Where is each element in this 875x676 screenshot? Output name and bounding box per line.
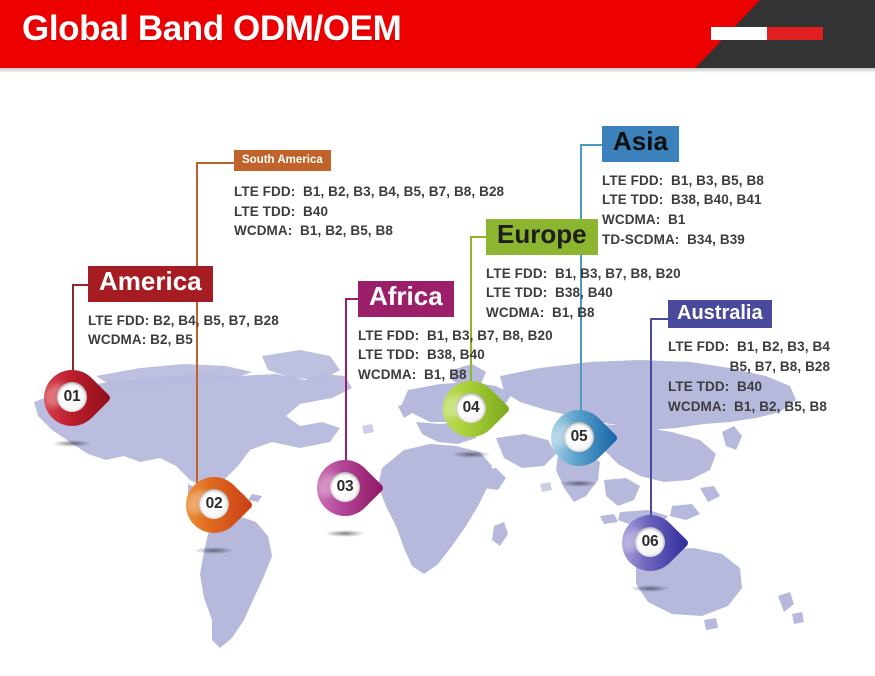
band-line: LTE FDD: B1, B3, B7, B8, B20: [358, 326, 553, 346]
region-bands-america: LTE FDD: B2, B4, B5, B7, B28 WCDMA: B2, …: [88, 311, 279, 350]
band-line: LTE FDD: B1, B3, B5, B8: [602, 171, 764, 191]
map-pin-06[interactable]: 06: [622, 515, 678, 591]
region-block-south-america: South America LTE FDD: B1, B2, B3, B4, B…: [234, 150, 504, 241]
map-pin-05[interactable]: 05: [551, 410, 607, 486]
band-line: LTE TDD: B38, B40: [358, 345, 553, 365]
pin-number-badge: 04: [456, 393, 486, 423]
page-title: Global Band ODM/OEM: [22, 9, 401, 49]
pin-shadow: [630, 585, 670, 592]
pin-number: 06: [642, 534, 659, 550]
band-line: LTE FDD: B1, B3, B7, B8, B20: [486, 264, 681, 284]
pin-shadow: [325, 530, 365, 537]
brand-logo-icon: [711, 27, 823, 40]
band-line: LTE TDD: B38, B40, B41: [602, 190, 764, 210]
brand-bar-white: [711, 27, 767, 40]
band-line: B5, B7, B8, B28: [668, 357, 830, 377]
pin-number: 02: [206, 496, 223, 512]
brand-bar-red: [767, 27, 823, 40]
band-line: LTE FDD: B2, B4, B5, B7, B28: [88, 311, 279, 331]
map-pin-01[interactable]: 01: [44, 370, 100, 446]
band-line: WCDMA: B1, B8: [486, 303, 681, 323]
pin-number-badge: 03: [330, 472, 360, 502]
pin-shadow: [559, 480, 599, 487]
band-line: LTE FDD: B1, B2, B3, B4, B5, B7, B8, B28: [234, 182, 504, 202]
band-line: WCDMA: B1: [602, 210, 764, 230]
pin-number-badge: 05: [564, 422, 594, 452]
pin-shadow: [52, 440, 92, 447]
map-pin-03[interactable]: 03: [317, 460, 373, 536]
band-line: TD-SCDMA: B34, B39: [602, 230, 764, 250]
pin-shadow: [194, 547, 234, 554]
pin-number-badge: 06: [635, 527, 665, 557]
region-bands-australia: LTE FDD: B1, B2, B3, B4 B5, B7, B8, B28 …: [668, 337, 830, 416]
band-line: WCDMA: B1, B2, B5, B8: [668, 397, 830, 417]
region-tag-america: America: [88, 266, 213, 302]
region-tag-europe: Europe: [486, 219, 598, 255]
band-line: WCDMA: B2, B5: [88, 330, 279, 350]
band-line: LTE TDD: B40: [234, 202, 504, 222]
pin-number-badge: 02: [199, 489, 229, 519]
region-bands-south-america: LTE FDD: B1, B2, B3, B4, B5, B7, B8, B28…: [234, 182, 504, 241]
band-line: LTE TDD: B38, B40: [486, 283, 681, 303]
region-bands-asia: LTE FDD: B1, B3, B5, B8 LTE TDD: B38, B4…: [602, 171, 764, 250]
pin-number-badge: 01: [57, 382, 87, 412]
region-tag-australia: Australia: [668, 300, 772, 328]
band-line: LTE TDD: B40: [668, 377, 830, 397]
region-bands-europe: LTE FDD: B1, B3, B7, B8, B20 LTE TDD: B3…: [486, 264, 681, 323]
pin-shadow: [451, 451, 491, 458]
region-block-asia: Asia LTE FDD: B1, B3, B5, B8 LTE TDD: B3…: [602, 126, 764, 250]
pin-number: 03: [337, 479, 354, 495]
band-line: WCDMA: B1, B2, B5, B8: [234, 221, 504, 241]
region-block-america: America LTE FDD: B2, B4, B5, B7, B28 WCD…: [88, 266, 279, 350]
region-tag-africa: Africa: [358, 281, 454, 317]
page-header: Global Band ODM/OEM: [0, 0, 875, 68]
region-tag-asia: Asia: [602, 126, 679, 162]
header-divider: [0, 68, 875, 73]
band-line: LTE FDD: B1, B2, B3, B4: [668, 337, 830, 357]
pin-number: 05: [571, 429, 588, 445]
region-bands-africa: LTE FDD: B1, B3, B7, B8, B20 LTE TDD: B3…: [358, 326, 553, 385]
map-pin-02[interactable]: 02: [186, 477, 242, 553]
map-pin-04[interactable]: 04: [443, 381, 499, 457]
pin-number: 01: [64, 389, 81, 405]
region-block-australia: Australia LTE FDD: B1, B2, B3, B4 B5, B7…: [668, 300, 830, 416]
region-tag-south-america: South America: [234, 150, 331, 171]
pin-number: 04: [463, 400, 480, 416]
